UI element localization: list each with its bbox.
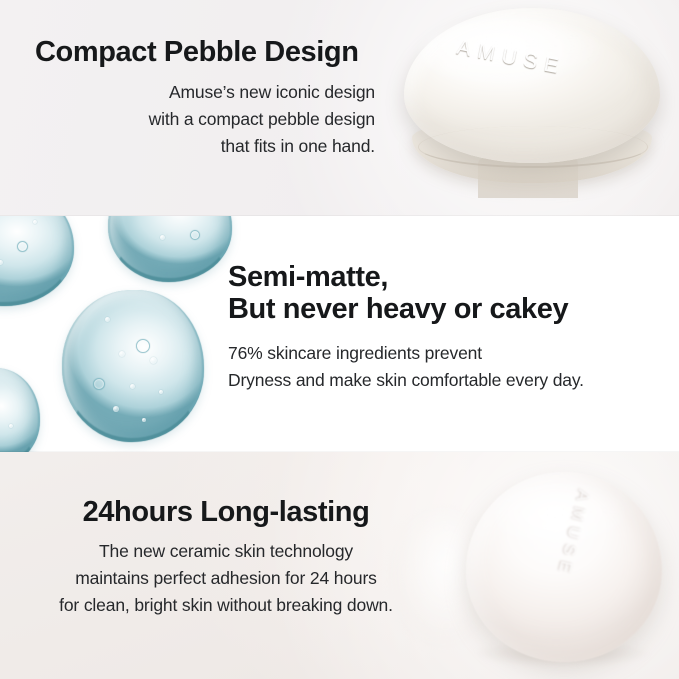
- product-detail-image: AMUSE Compact Pebble Design Amuse’s new …: [0, 0, 679, 679]
- gel-droplet-bottom-left: [0, 368, 40, 452]
- panel-3-text-block: 24hours Long-lasting The new ceramic ski…: [6, 496, 446, 619]
- panel-3-heading: 24hours Long-lasting: [6, 496, 446, 528]
- gel-droplet-top-left: [0, 216, 74, 306]
- panel-1-body-line-1: Amuse’s new iconic design: [0, 79, 375, 106]
- panel-1-body: Amuse’s new iconic design with a compact…: [0, 79, 380, 160]
- panel-2-heading-line-2: But never heavy or cakey: [228, 293, 584, 325]
- panel-1-text-block: Compact Pebble Design Amuse’s new iconic…: [0, 36, 380, 160]
- panel-3-body-line-2: maintains perfect adhesion for 24 hours: [6, 565, 446, 592]
- panel-compact-pebble-design: AMUSE Compact Pebble Design Amuse’s new …: [0, 0, 679, 216]
- panel-1-body-line-3: that fits in one hand.: [0, 133, 375, 160]
- panel-3-body-line-3: for clean, bright skin without breaking …: [6, 592, 446, 619]
- panel-2-text-block: Semi-matte, But never heavy or cakey 76%…: [228, 261, 584, 394]
- panel-3-body-line-1: The new ceramic skin technology: [6, 538, 446, 565]
- gel-droplet-top-middle: [108, 216, 232, 282]
- panel-24hours-long-lasting: AMUSE 24hours Long-lasting The new ceram…: [0, 452, 679, 679]
- panel-semi-matte: Semi-matte, But never heavy or cakey 76%…: [0, 216, 679, 452]
- panel-2-body: 76% skincare ingredients prevent Dryness…: [228, 340, 584, 394]
- panel-1-body-line-2: with a compact pebble design: [0, 106, 375, 133]
- panel-1-heading: Compact Pebble Design: [0, 36, 380, 68]
- panel-2-heading-line-1: Semi-matte,: [228, 261, 584, 293]
- panel-2-heading: Semi-matte, But never heavy or cakey: [228, 261, 584, 326]
- gel-droplet-main: [62, 290, 204, 442]
- amuse-compact-product-image: AMUSE: [404, 8, 660, 183]
- compact-body: AMUSE: [466, 472, 662, 662]
- panel-2-body-line-2: Dryness and make skin comfortable every …: [228, 367, 584, 394]
- panel-2-body-line-1: 76% skincare ingredients prevent: [228, 340, 584, 367]
- compact-rim: [418, 126, 648, 168]
- panel-3-body: The new ceramic skin technology maintain…: [6, 538, 446, 619]
- amuse-compact-blurred-image: AMUSE: [466, 472, 662, 662]
